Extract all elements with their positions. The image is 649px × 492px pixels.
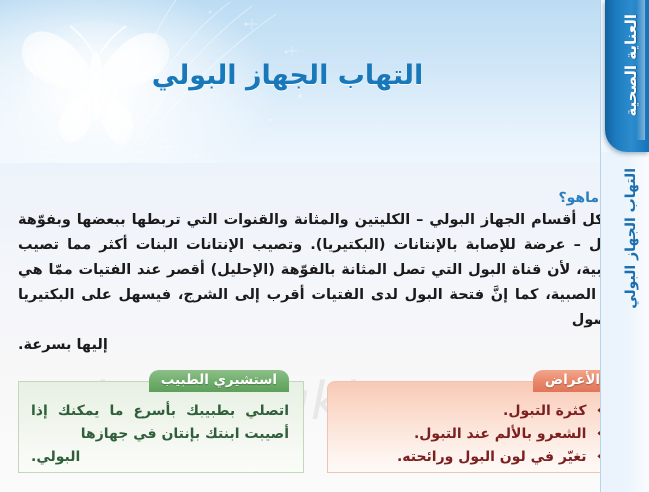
- symptom-text: تغيّر في لون البول ورائحته.: [397, 449, 587, 465]
- right-sidebar: العناية الصحية التهاب الجهاز البولي: [600, 0, 649, 492]
- symptom-text: الشعرو بالألم عند التبول.: [414, 426, 587, 442]
- consult-doctor-text-body: اتصلي بطبيبك بأسرع ما يمكنك إذا أصيبت اب…: [31, 403, 289, 442]
- consult-doctor-text: اتصلي بطبيبك بأسرع ما يمكنك إذا أصيبت اب…: [31, 400, 289, 469]
- sidebar-tab-health-care[interactable]: العناية الصحية: [605, 0, 649, 152]
- section-heading-what-is-it: ماهو؟: [558, 190, 599, 206]
- body-paragraph-text: إن كل أقسام الجهاز البولي – الكليتين وال…: [18, 212, 627, 328]
- symptoms-box: الأعراض ❖ كثرة التبول. ❖ الشعرو بالألم ع…: [327, 381, 627, 473]
- body-paragraph: إن كل أقسام الجهاز البولي – الكليتين وال…: [18, 208, 627, 358]
- symptoms-list: ❖ كثرة التبول. ❖ الشعرو بالألم عند التبو…: [338, 400, 608, 469]
- list-item: ❖ تغيّر في لون البول ورائحته.: [338, 446, 608, 469]
- consult-doctor-tab: استشيري الطبيب: [149, 370, 289, 392]
- body-paragraph-last-line: إليها بسرعة.: [18, 333, 627, 358]
- symptom-text: كثرة التبول.: [503, 403, 586, 419]
- sidebar-tab-label: العناية الصحية: [622, 14, 640, 117]
- page-root: التهاب الجهاز البولي hayatouki.com ماهو؟…: [0, 0, 649, 492]
- list-item: ❖ كثرة التبول.: [338, 400, 608, 423]
- consult-doctor-box: استشيري الطبيب اتصلي بطبيبك بأسرع ما يمك…: [18, 381, 304, 473]
- header-banner: التهاب الجهاز البولي: [0, 0, 601, 163]
- list-item: ❖ الشعرو بالألم عند التبول.: [338, 423, 608, 446]
- consult-doctor-text-last-line: البولي.: [31, 446, 289, 469]
- page-title: التهاب الجهاز البولي: [0, 60, 575, 91]
- sidebar-subtitle: التهاب الجهاز البولي: [623, 168, 639, 309]
